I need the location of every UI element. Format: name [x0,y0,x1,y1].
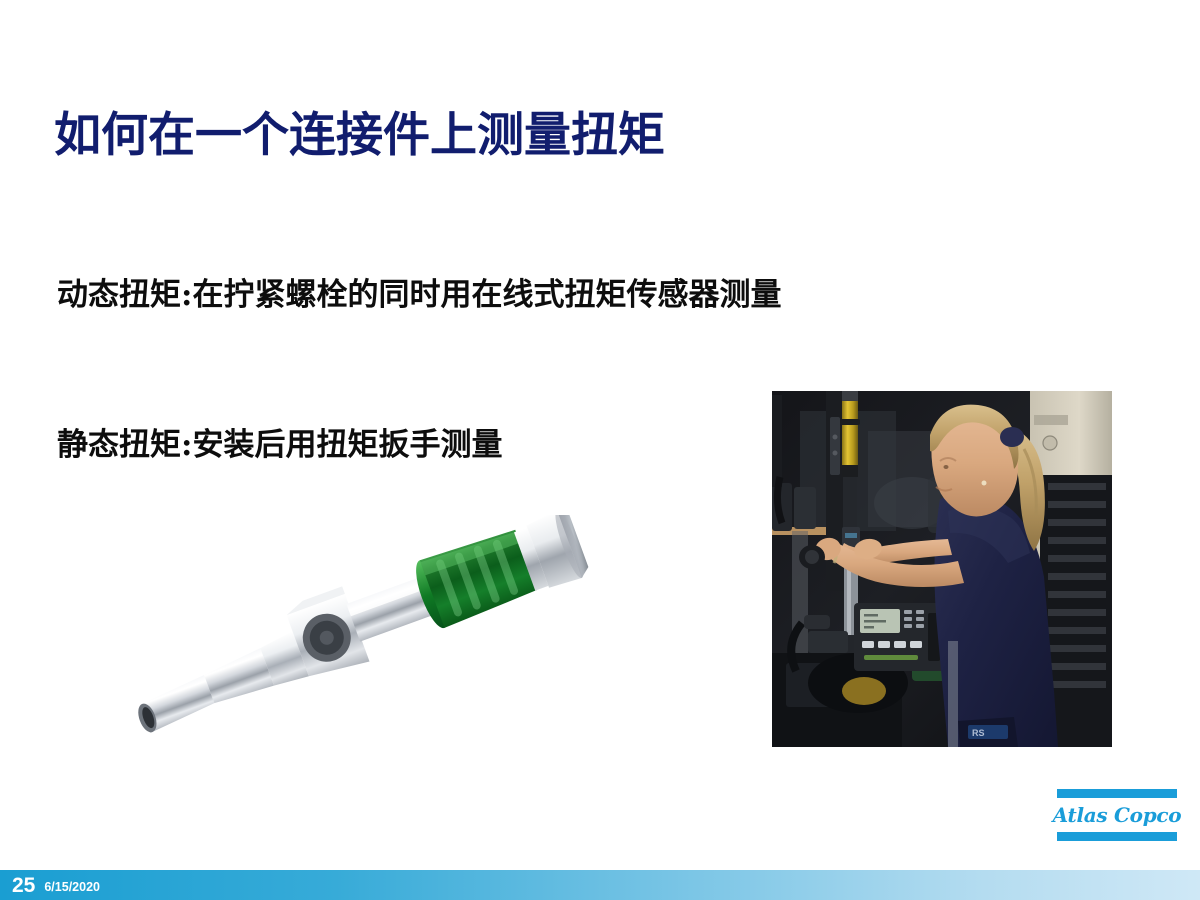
logo-wordmark: Atlas Copco [1057,798,1177,832]
slide-footer-bar: 25 6/15/2020 [0,870,1200,900]
svg-text:RS: RS [972,728,985,738]
atlas-copco-logo: Atlas Copco [1057,789,1177,841]
assembly-operator-photo: RS [772,391,1112,747]
page-title: 如何在一个连接件上测量扭矩 [54,110,1104,162]
slide-canvas: 如何在一个连接件上测量扭矩 动态扭矩:在拧紧螺栓的同时用在线式扭矩传感器测量 静… [0,0,1200,900]
logo-top-bar [1057,789,1177,798]
body-text-static-torque: 静态扭矩:安装后用扭矩扳手测量 [57,426,502,465]
slide-number: 25 [12,875,35,896]
slide-date: 6/15/2020 [44,877,100,894]
torque-wrench-photo [108,515,598,735]
body-text-dynamic-torque: 动态扭矩:在拧紧螺栓的同时用在线式扭矩传感器测量 [57,276,781,315]
logo-bottom-bar [1057,832,1177,841]
